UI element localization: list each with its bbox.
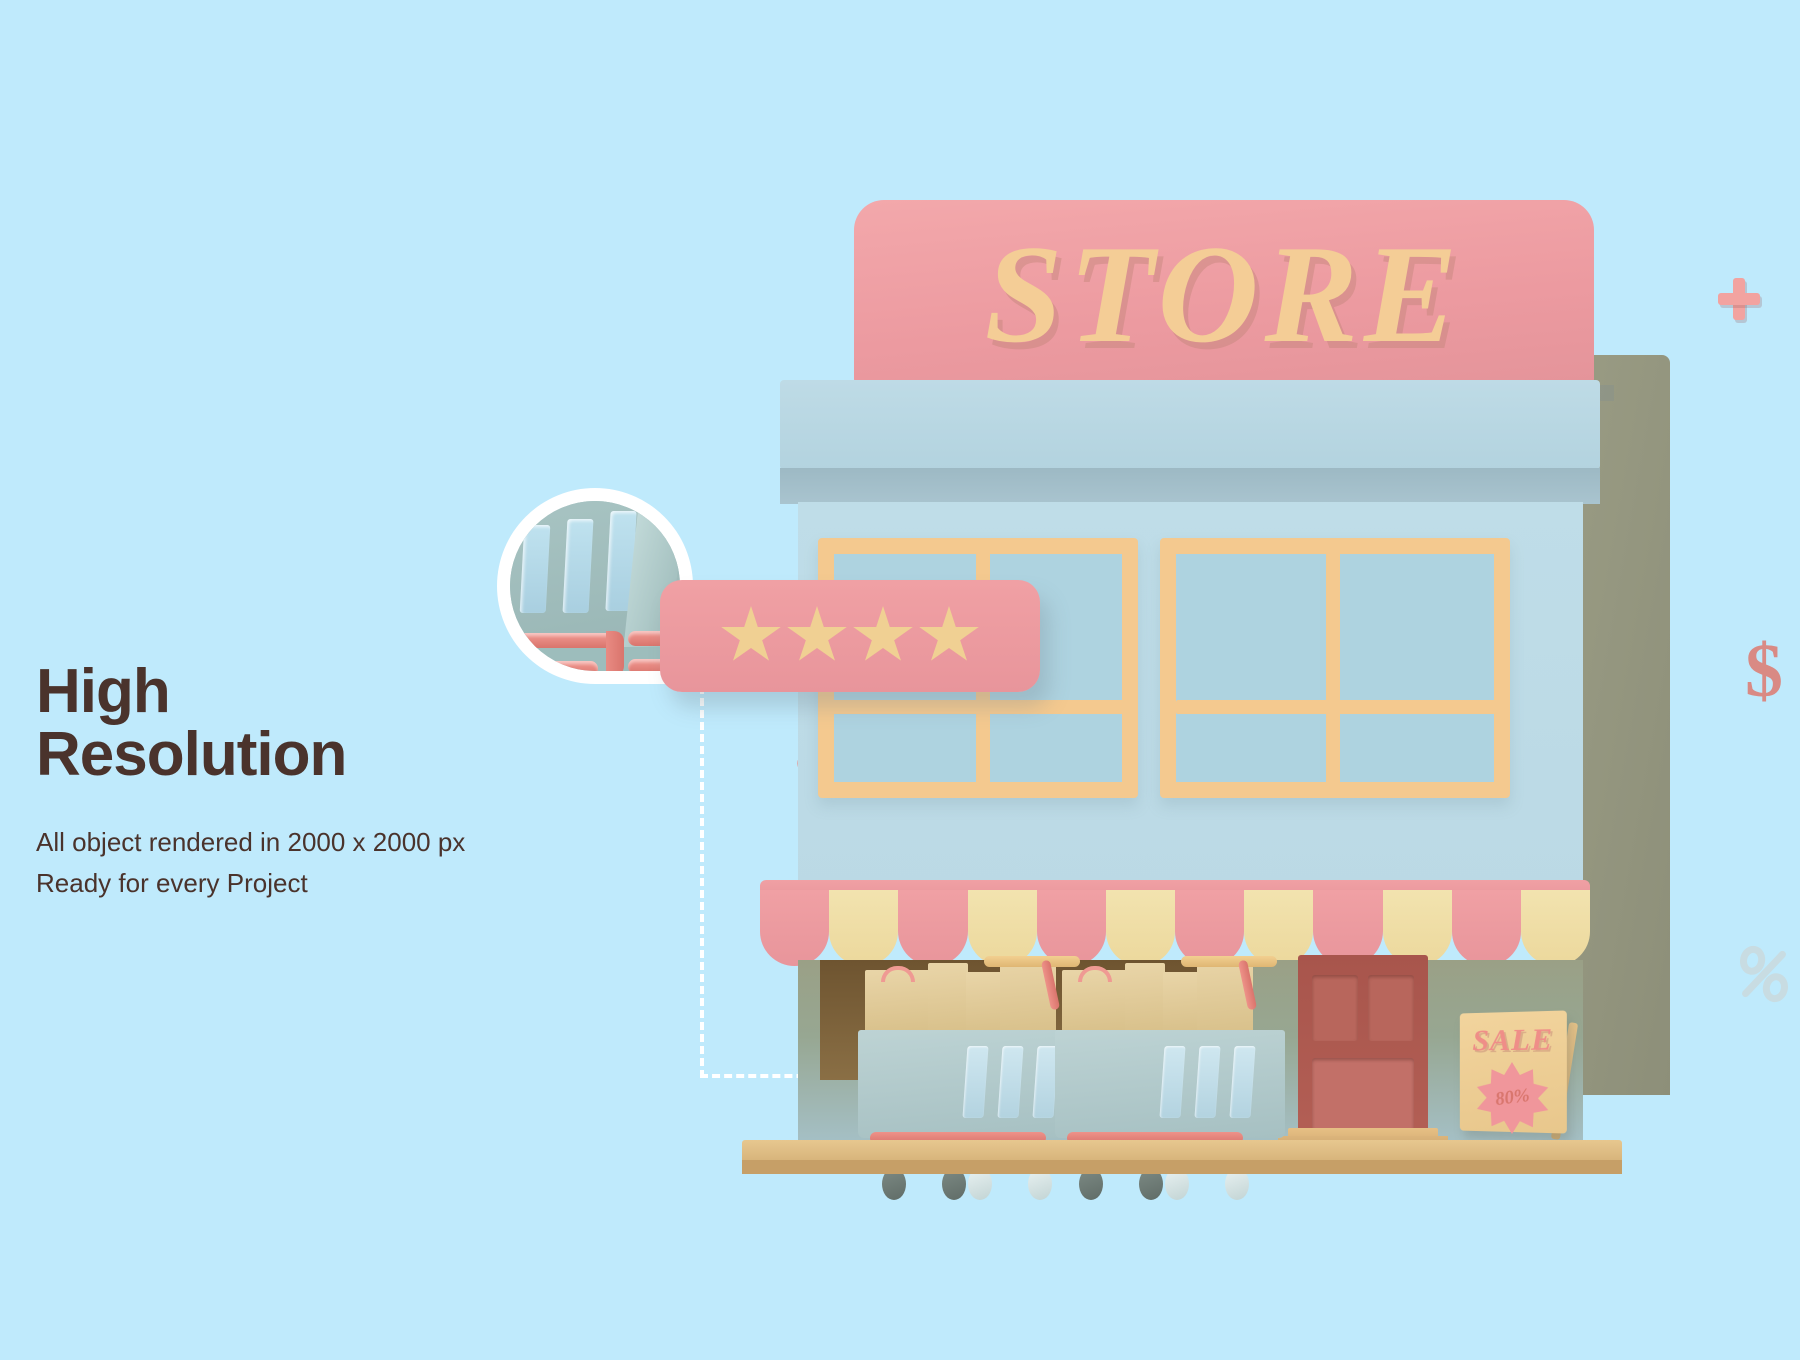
sale-burst-badge: 80%	[1477, 1062, 1548, 1135]
star-icon	[786, 606, 848, 666]
store-signboard: STORE	[854, 200, 1594, 385]
star-icon	[852, 606, 914, 666]
page-subtitle-line-1: All object rendered in 2000 x 2000 px	[36, 822, 465, 863]
door-panel	[1312, 1058, 1414, 1130]
cart-handle	[1181, 956, 1277, 967]
magnifier-detail-content	[510, 501, 680, 671]
store-sign-text: STORE	[854, 214, 1594, 375]
page-title: High Resolution	[36, 660, 346, 786]
page-title-line-1: High	[36, 660, 346, 723]
star-rating-badge	[660, 580, 1040, 692]
door-panel	[1368, 975, 1414, 1041]
awning-scallop	[1037, 890, 1106, 966]
zoomed-cart-rail-cap	[606, 631, 624, 671]
star-icon	[720, 606, 782, 666]
sale-board: SALE 80%	[1460, 1010, 1567, 1133]
star-icon	[918, 606, 980, 666]
window-mullion	[1176, 700, 1496, 714]
cart-handle	[984, 956, 1080, 967]
awning-scallop	[760, 890, 829, 966]
window-mullion	[1326, 552, 1340, 784]
page-subtitle: All object rendered in 2000 x 2000 px Re…	[36, 822, 465, 904]
shopping-bag	[928, 963, 968, 1033]
3d-storefront-illustration: STORE	[860, 200, 1780, 1100]
zoomed-cart-rail	[510, 661, 598, 671]
store-awning	[760, 890, 1590, 966]
awning-scallop	[1106, 890, 1175, 966]
awning-scallop	[1175, 890, 1244, 966]
page-subtitle-line-2: Ready for every Project	[36, 863, 465, 904]
facade-upper-band	[780, 380, 1600, 470]
zoomed-cart-slot	[520, 525, 551, 613]
dashed-connector-line-vertical	[700, 686, 704, 1078]
page-title-line-2: Resolution	[36, 723, 346, 786]
sale-discount-text: 80%	[1494, 1085, 1531, 1111]
poster-canvas: High Resolution All object rendered in 2…	[0, 0, 1800, 1360]
sale-board-title: SALE	[1460, 1021, 1567, 1059]
awning-scallop	[968, 890, 1037, 966]
awning-scallop	[829, 890, 898, 966]
awning-scallop	[1452, 890, 1521, 966]
zoomed-cart-slot	[563, 519, 594, 613]
shopping-bag	[1125, 963, 1165, 1033]
window-mullion	[832, 700, 1124, 714]
door-panel	[1312, 975, 1358, 1041]
zoomed-cart-rail	[510, 633, 618, 648]
awning-scallop	[898, 890, 967, 966]
awning-scallop	[1521, 890, 1590, 966]
store-sidewalk-edge	[742, 1160, 1622, 1174]
facade-ledge	[780, 468, 1600, 504]
